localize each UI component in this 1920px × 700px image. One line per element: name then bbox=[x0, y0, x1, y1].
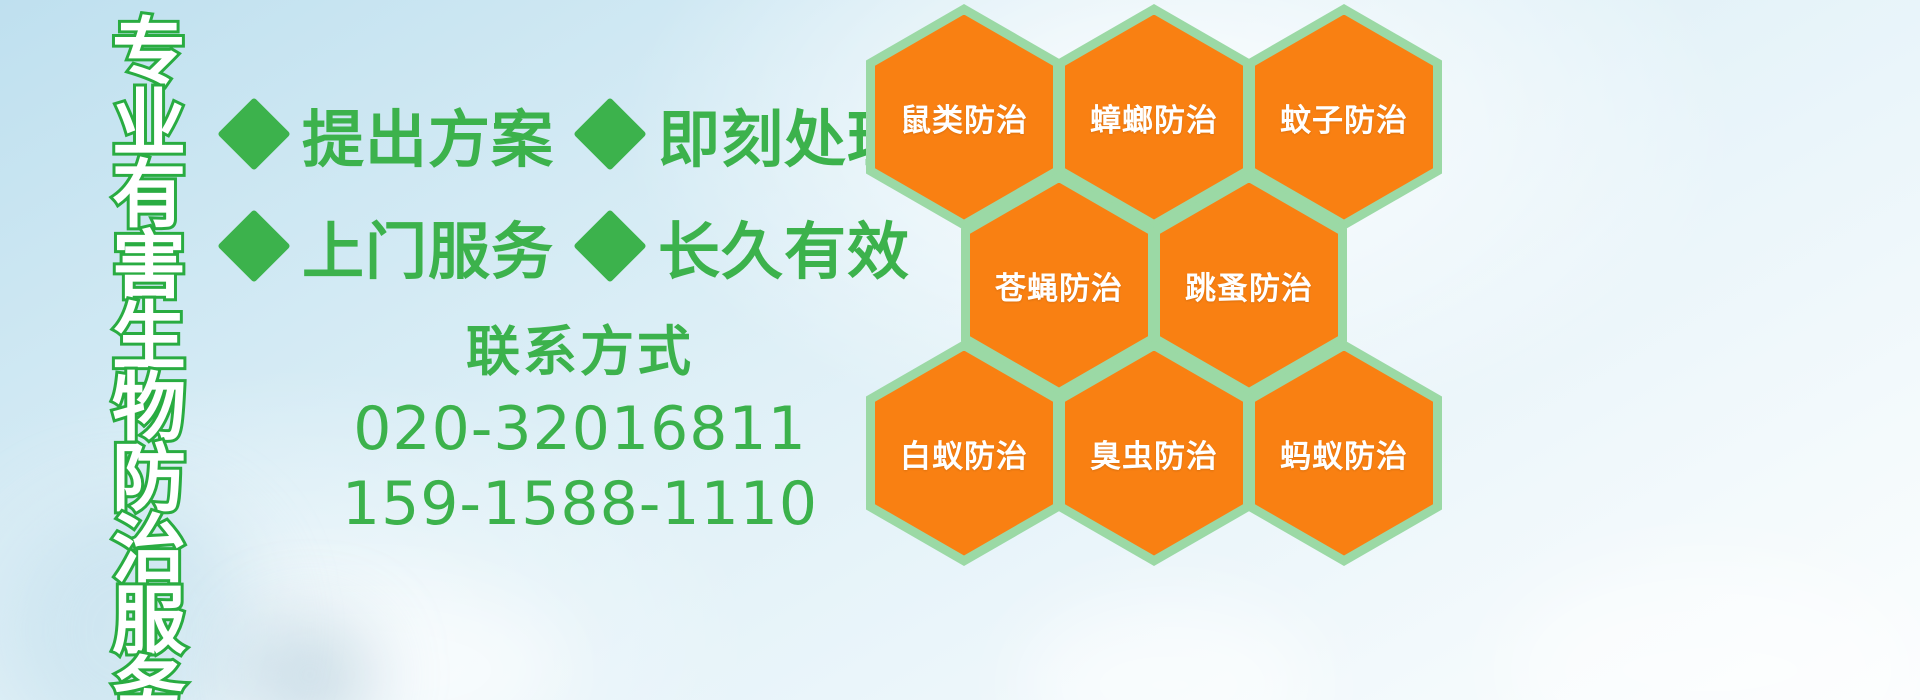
hex-inner: 苍蝇防治 bbox=[970, 183, 1148, 388]
hex-inner: 臭虫防治 bbox=[1065, 351, 1243, 556]
background-haze bbox=[250, 620, 370, 700]
promo-banner: 专 业 有 害 生 物 防 治 服 务 提出方案 即刻处理 上门服务 长久有效 … bbox=[0, 0, 1920, 700]
vertical-title-char: 业 bbox=[112, 89, 186, 160]
vertical-title-char: 物 bbox=[112, 373, 186, 444]
service-label: 蟑螂防治 bbox=[1090, 95, 1218, 140]
contact-block: 联系方式 020-32016811 159-1588-1110 bbox=[300, 318, 860, 542]
service-label: 蚊子防治 bbox=[1280, 95, 1408, 140]
background-haze bbox=[1500, 560, 1920, 700]
feature-row: 提出方案 即刻处理 bbox=[228, 78, 868, 190]
service-label: 白蚁防治 bbox=[900, 431, 1028, 476]
vertical-title-char: 生 bbox=[112, 302, 186, 373]
vertical-title-char: 治 bbox=[112, 515, 186, 586]
feature-label: 上门服务 bbox=[302, 201, 554, 291]
service-label: 臭虫防治 bbox=[1090, 431, 1218, 476]
hex-inner: 白蚁防治 bbox=[875, 351, 1053, 556]
feature-list: 提出方案 即刻处理 上门服务 长久有效 bbox=[228, 78, 868, 302]
vertical-title-char: 有 bbox=[112, 160, 186, 231]
diamond-icon bbox=[573, 97, 647, 171]
hex-inner: 蚂蚁防治 bbox=[1255, 351, 1433, 556]
hex-inner: 鼠类防治 bbox=[875, 15, 1053, 220]
vertical-title-char: 防 bbox=[112, 444, 186, 515]
service-label: 鼠类防治 bbox=[900, 95, 1028, 140]
service-label: 跳蚤防治 bbox=[1185, 263, 1313, 308]
feature-label: 提出方案 bbox=[302, 89, 554, 179]
hex-inner: 蟑螂防治 bbox=[1065, 15, 1243, 220]
phone-landline[interactable]: 020-32016811 bbox=[300, 392, 860, 467]
diamond-icon bbox=[217, 209, 291, 283]
diamond-icon bbox=[217, 97, 291, 171]
phone-mobile[interactable]: 159-1588-1110 bbox=[300, 467, 860, 542]
contact-label: 联系方式 bbox=[300, 318, 860, 386]
hex-inner: 蚊子防治 bbox=[1255, 15, 1433, 220]
service-honeycomb: 鼠类防治 蟑螂防治 蚊子防治 苍蝇防治 跳蚤防治 白蚁防治 bbox=[858, 0, 1478, 700]
vertical-title-char: 专 bbox=[112, 18, 186, 89]
background-haze bbox=[150, 580, 570, 700]
vertical-title-char: 服 bbox=[112, 586, 186, 657]
hex-inner: 跳蚤防治 bbox=[1160, 183, 1338, 388]
service-label: 苍蝇防治 bbox=[995, 263, 1123, 308]
vertical-title-char: 务 bbox=[112, 657, 186, 700]
diamond-icon bbox=[573, 209, 647, 283]
vertical-title-char: 害 bbox=[112, 231, 186, 302]
service-label: 蚂蚁防治 bbox=[1280, 431, 1408, 476]
feature-row: 上门服务 长久有效 bbox=[228, 190, 868, 302]
vertical-title: 专 业 有 害 生 物 防 治 服 务 bbox=[95, 18, 203, 700]
